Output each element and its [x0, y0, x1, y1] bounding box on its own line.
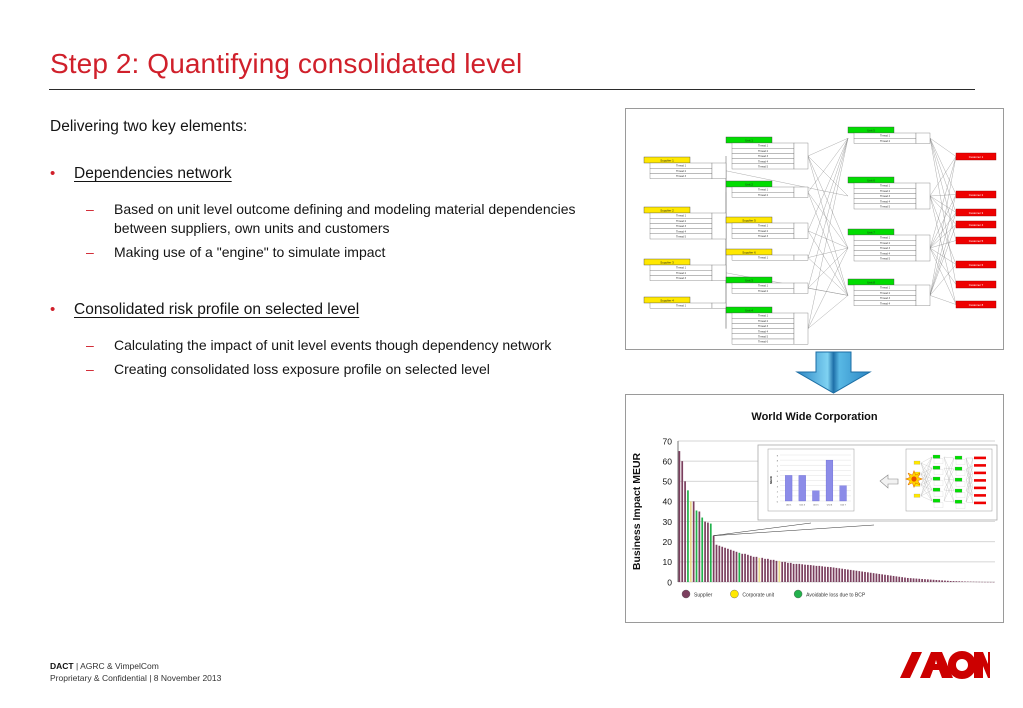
- chart-bar: [876, 574, 878, 582]
- inset-panel: 0123456789MEURUnit 1Unit 3Unit 5Unit 6Un…: [758, 445, 997, 520]
- legend-label: Avoidable loss due to BCP: [806, 593, 866, 599]
- chart-bar: [924, 579, 926, 582]
- svg-text:Thread 2: Thread 2: [758, 194, 769, 197]
- svg-text:Thread 2: Thread 2: [676, 170, 687, 173]
- chart-bar: [916, 579, 918, 582]
- chart-bar: [693, 501, 695, 582]
- svg-text:Customer 1: Customer 1: [969, 155, 984, 159]
- chart-bar: [741, 554, 743, 582]
- svg-text:Thread 4: Thread 4: [758, 330, 769, 333]
- chart-bar: [898, 577, 900, 582]
- svg-text:Thread 2: Thread 2: [676, 220, 687, 223]
- aon-logo: [898, 648, 990, 688]
- svg-text:Customer 2: Customer 2: [969, 193, 984, 197]
- network-node: Customer 3: [956, 209, 996, 216]
- network-node: Unit 2Thread 1Thread 2: [726, 181, 808, 197]
- svg-text:Unit 5: Unit 5: [867, 128, 875, 132]
- svg-text:Thread 1: Thread 1: [880, 237, 891, 240]
- svg-text:Thread 4: Thread 4: [676, 230, 687, 233]
- network-node: Customer 4: [956, 221, 996, 228]
- svg-text:Supplier 6: Supplier 6: [742, 250, 756, 254]
- svg-text:Customer 5: Customer 5: [969, 239, 984, 243]
- dash-icon: –: [86, 243, 114, 262]
- svg-text:Thread 4: Thread 4: [880, 302, 891, 305]
- svg-text:Thread 1: Thread 1: [880, 135, 891, 138]
- sub-item-text: Based on unit level outcome defining and…: [114, 200, 584, 238]
- svg-text:Thread 5: Thread 5: [676, 236, 687, 239]
- svg-text:Thread 1: Thread 1: [880, 287, 891, 290]
- chart-bar: [784, 562, 786, 582]
- svg-text:Thread 5: Thread 5: [758, 166, 769, 169]
- inset-bar: [812, 491, 819, 501]
- network-node: Supplier 1Thread 1Thread 2Thread 3: [644, 157, 726, 179]
- dependencies-network-diagram: Supplier 1Thread 1Thread 2Thread 3Suppli…: [626, 109, 1003, 349]
- svg-text:Customer 7: Customer 7: [969, 283, 984, 287]
- chart-bar: [807, 565, 809, 582]
- chart-bar: [778, 561, 780, 582]
- svg-text:Thread 1: Thread 1: [758, 257, 769, 260]
- down-arrow: [786, 350, 881, 395]
- chart-bar: [790, 563, 792, 582]
- chart-bar: [861, 572, 863, 582]
- network-node: Unit 6Thread 1Thread 2Thread 3Thread 4Th…: [848, 177, 930, 209]
- chart-title: World Wide Corporation: [751, 411, 877, 423]
- network-node: Supplier 4Thread 1: [644, 297, 726, 308]
- chart-bar: [701, 518, 703, 582]
- content-column: Delivering two key elements: • Dependenc…: [50, 118, 610, 387]
- footer-client: | AGRC & VimpelCom: [76, 661, 159, 671]
- sub-item: – Based on unit level outcome defining a…: [50, 200, 610, 238]
- svg-text:Thread 3: Thread 3: [758, 235, 769, 238]
- chart-bar: [747, 555, 749, 582]
- svg-text:Customer 6: Customer 6: [969, 263, 984, 267]
- y-axis-tick: 60: [663, 456, 673, 466]
- chart-legend: SupplierCorporate unitAvoidable loss due…: [682, 590, 866, 599]
- inset-bar: [785, 475, 792, 501]
- bullet-dot-icon: •: [50, 300, 74, 320]
- svg-text:Customer 4: Customer 4: [969, 223, 984, 227]
- network-node: Unit 7Thread 1Thread 2Thread 3Thread 4Th…: [848, 229, 930, 261]
- bullet-block-1: • Dependencies network – Based on unit l…: [50, 164, 610, 262]
- footer: DACT | AGRC & VimpelCom Proprietary & Co…: [50, 660, 221, 684]
- chart-bar: [836, 568, 838, 582]
- chart-bar: [907, 578, 909, 582]
- sub-item: – Creating consolidated loss exposure pr…: [50, 360, 610, 379]
- chart-bar: [776, 561, 778, 582]
- network-node: Unit 4Thread 1Thread 2Thread 3Thread 4Th…: [726, 307, 808, 344]
- title-divider: [49, 89, 975, 90]
- svg-text:Thread 2: Thread 2: [758, 290, 769, 293]
- chart-bar: [773, 560, 775, 582]
- chart-bar: [873, 573, 875, 582]
- chart-bar: [838, 568, 840, 582]
- svg-text:Supplier 4: Supplier 4: [660, 298, 674, 302]
- chart-bar: [890, 576, 892, 582]
- svg-text:Thread 1: Thread 1: [676, 267, 687, 270]
- chart-bar: [687, 490, 689, 582]
- network-node: Unit 3Thread 1Thread 2: [726, 277, 808, 293]
- chart-bar: [841, 569, 843, 582]
- chart-bar: [921, 579, 923, 582]
- sub-item-text: Making use of a "engine" to simulate imp…: [114, 243, 385, 262]
- svg-text:Thread 3: Thread 3: [676, 225, 687, 228]
- chart-bar: [690, 501, 692, 582]
- chart-bar: [958, 581, 960, 582]
- svg-text:Thread 1: Thread 1: [676, 215, 687, 218]
- inset-category-label: Unit 6: [827, 504, 833, 507]
- chart-bar: [887, 575, 889, 582]
- svg-text:Unit 2: Unit 2: [745, 182, 753, 186]
- chart-bar: [744, 554, 746, 582]
- svg-text:Thread 1: Thread 1: [676, 305, 687, 308]
- svg-text:Thread 3: Thread 3: [880, 247, 891, 250]
- svg-text:Thread 3: Thread 3: [676, 175, 687, 178]
- chart-bar: [867, 572, 869, 582]
- bullet-1: • Dependencies network: [50, 164, 610, 184]
- chart-bar: [707, 523, 709, 582]
- svg-text:Thread 6: Thread 6: [758, 341, 769, 344]
- svg-text:Customer 3: Customer 3: [969, 211, 984, 215]
- chart-bar: [870, 573, 872, 582]
- svg-text:Thread 3: Thread 3: [676, 277, 687, 280]
- lead-text: Delivering two key elements:: [50, 118, 610, 136]
- sub-item-text: Creating consolidated loss exposure prof…: [114, 360, 490, 379]
- inset-category-label: Unit 3: [800, 504, 806, 507]
- chart-bar: [679, 451, 681, 582]
- svg-text:Thread 4: Thread 4: [880, 252, 891, 255]
- dependencies-network-frame: Supplier 1Thread 1Thread 2Thread 3Suppli…: [625, 108, 1004, 350]
- network-node: Unit 1Thread 1Thread 2Thread 3Thread 4Th…: [726, 137, 808, 169]
- chart-bar: [813, 565, 815, 582]
- inset-bar: [840, 486, 847, 501]
- svg-text:Supplier 2: Supplier 2: [660, 208, 674, 212]
- chart-bar: [896, 576, 898, 582]
- chart-bar: [704, 522, 706, 582]
- chart-bar: [787, 563, 789, 582]
- chart-bar: [738, 553, 740, 582]
- network-node: Supplier 3Thread 1Thread 2Thread 3: [644, 259, 726, 281]
- network-node: Customer 8: [956, 301, 996, 308]
- chart-bar: [858, 571, 860, 582]
- chart-bar: [764, 559, 766, 582]
- chart-bar: [864, 572, 866, 582]
- svg-text:Thread 2: Thread 2: [758, 150, 769, 153]
- chart-bar: [730, 550, 732, 582]
- chart-bar: [753, 557, 755, 582]
- chart-bar: [818, 566, 820, 582]
- dash-icon: –: [86, 360, 114, 379]
- svg-text:Thread 2: Thread 2: [676, 272, 687, 275]
- chart-bar: [718, 546, 720, 582]
- svg-text:Unit 6: Unit 6: [867, 178, 875, 182]
- y-axis-tick: 20: [663, 537, 673, 547]
- network-node: Unit 5Thread 1Thread 2: [848, 127, 930, 143]
- network-node: Supplier 2Thread 1Thread 2Thread 3Thread…: [644, 207, 726, 239]
- dash-icon: –: [86, 336, 114, 355]
- inset-category-label: Unit 1: [786, 504, 792, 507]
- chart-bar: [816, 566, 818, 582]
- network-node: Customer 5: [956, 237, 996, 244]
- svg-text:Thread 1: Thread 1: [758, 145, 769, 148]
- svg-text:Supplier 3: Supplier 3: [660, 260, 674, 264]
- chart-bar: [721, 547, 723, 582]
- chart-bar: [901, 577, 903, 582]
- legend-label: Corporate unit: [742, 593, 774, 599]
- footer-line-2: Proprietary & Confidential | 8 November …: [50, 672, 221, 684]
- svg-text:Unit 1: Unit 1: [745, 138, 753, 142]
- sub-item: – Making use of a "engine" to simulate i…: [50, 243, 610, 262]
- legend-swatch: [682, 590, 690, 598]
- chart-bar: [781, 562, 783, 582]
- chart-bar: [810, 565, 812, 582]
- chart-bar: [936, 580, 938, 582]
- inset-category-label: Unit 7: [840, 504, 846, 507]
- chart-bar: [884, 575, 886, 582]
- chart-bar: [713, 536, 715, 582]
- chart-bar: [793, 564, 795, 582]
- chart-bar: [881, 574, 883, 582]
- svg-text:Thread 5: Thread 5: [880, 206, 891, 209]
- chart-bar: [893, 576, 895, 582]
- chart-bar: [950, 581, 952, 582]
- chart-bar: [801, 564, 803, 582]
- chart-bar: [918, 579, 920, 582]
- chart-bar: [681, 461, 683, 582]
- chart-bar: [827, 567, 829, 582]
- chart-bar: [844, 569, 846, 582]
- chart-bar: [941, 580, 943, 582]
- y-axis-tick: 40: [663, 497, 673, 507]
- bullet-block-2: • Consolidated risk profile on selected …: [50, 300, 610, 379]
- footer-project: DACT: [50, 661, 74, 671]
- network-node: Unit 8Thread 1Thread 2Thread 3Thread 4: [848, 279, 930, 306]
- chart-bar: [847, 570, 849, 582]
- y-axis-tick: 30: [663, 517, 673, 527]
- bullet-2: • Consolidated risk profile on selected …: [50, 300, 610, 320]
- svg-text:Thread 5: Thread 5: [758, 336, 769, 339]
- chart-bar: [798, 564, 800, 582]
- chart-bar: [933, 580, 935, 582]
- svg-text:Thread 2: Thread 2: [880, 292, 891, 295]
- aon-logo-icon: [900, 651, 990, 679]
- chart-bar: [761, 558, 763, 582]
- svg-text:Thread 5: Thread 5: [880, 258, 891, 261]
- y-axis-tick: 70: [663, 436, 673, 446]
- svg-text:Thread 1: Thread 1: [758, 285, 769, 288]
- network-node: Customer 2: [956, 191, 996, 198]
- y-axis-label: Business Impact MEUR: [631, 452, 643, 570]
- consolidated-loss-chart-frame: World Wide Corporation010203040506070Bus…: [625, 394, 1004, 623]
- page-title: Step 2: Quantifying consolidated level: [50, 48, 522, 80]
- svg-text:Thread 2: Thread 2: [880, 242, 891, 245]
- svg-text:Thread 4: Thread 4: [880, 200, 891, 203]
- sub-item: – Calculating the impact of unit level e…: [50, 336, 610, 355]
- chart-bar: [961, 581, 963, 582]
- chart-bar: [750, 556, 752, 582]
- network-node: Customer 6: [956, 261, 996, 268]
- dash-icon: –: [86, 200, 114, 219]
- svg-text:Thread 2: Thread 2: [758, 230, 769, 233]
- down-arrow-icon: [797, 352, 870, 393]
- svg-text:Customer 8: Customer 8: [969, 303, 984, 307]
- chart-bar: [796, 564, 798, 582]
- bullet-1-sublist: – Based on unit level outcome defining a…: [50, 200, 610, 262]
- svg-text:Thread 2: Thread 2: [880, 190, 891, 193]
- chart-bar: [833, 567, 835, 582]
- chart-bar: [696, 510, 698, 582]
- chart-bar: [710, 524, 712, 582]
- chart-bar: [767, 559, 769, 582]
- svg-text:Thread 3: Thread 3: [880, 195, 891, 198]
- network-node: Supplier 5Thread 1Thread 2Thread 3: [726, 217, 808, 239]
- chart-bar: [913, 578, 915, 582]
- legend-swatch: [730, 590, 738, 598]
- bullet-dot-icon: •: [50, 164, 74, 184]
- chart-bar: [824, 567, 826, 582]
- chart-bar: [804, 565, 806, 582]
- svg-text:Thread 3: Thread 3: [758, 155, 769, 158]
- network-node: Customer 7: [956, 281, 996, 288]
- chart-bar: [733, 551, 735, 582]
- inset-bar: [826, 460, 833, 501]
- svg-text:Thread 1: Thread 1: [758, 189, 769, 192]
- svg-text:Thread 3: Thread 3: [880, 297, 891, 300]
- chart-bar: [944, 581, 946, 582]
- y-axis-tick: 50: [663, 477, 673, 487]
- svg-text:Thread 1: Thread 1: [758, 225, 769, 228]
- chart-bar: [821, 566, 823, 582]
- svg-text:MEUR: MEUR: [769, 476, 773, 484]
- svg-text:Supplier 1: Supplier 1: [660, 158, 674, 162]
- chart-bar: [904, 578, 906, 582]
- network-node: Customer 1: [956, 153, 996, 160]
- spacer: [50, 270, 610, 300]
- svg-text:Supplier 5: Supplier 5: [742, 218, 756, 222]
- svg-text:Thread 2: Thread 2: [758, 320, 769, 323]
- chart-bar: [930, 580, 932, 582]
- chart-bar: [830, 567, 832, 582]
- chart-bar: [770, 560, 772, 582]
- consolidated-loss-chart: World Wide Corporation010203040506070Bus…: [626, 395, 1003, 622]
- chart-bar: [684, 481, 686, 582]
- chart-bar: [699, 512, 701, 583]
- network-node: Supplier 6Thread 1: [726, 249, 808, 260]
- inset-category-label: Unit 5: [813, 504, 819, 507]
- chart-bar: [736, 552, 738, 582]
- chart-bar: [878, 574, 880, 582]
- legend-swatch: [794, 590, 802, 598]
- bullet-1-heading: Dependencies network: [74, 164, 232, 184]
- slide: Step 2: Quantifying consolidated level D…: [0, 0, 1023, 708]
- legend-label: Supplier: [694, 593, 713, 599]
- chart-bar: [853, 570, 855, 582]
- chart-bar: [938, 580, 940, 582]
- inset-bar: [799, 475, 806, 501]
- svg-text:Unit 4: Unit 4: [745, 308, 753, 312]
- chart-bar: [724, 548, 726, 582]
- svg-text:Thread 2: Thread 2: [880, 140, 891, 143]
- sub-item-text: Calculating the impact of unit level eve…: [114, 336, 551, 355]
- chart-bar: [716, 545, 718, 582]
- svg-text:Unit 8: Unit 8: [867, 280, 875, 284]
- y-axis-tick: 10: [663, 557, 673, 567]
- svg-text:Unit 7: Unit 7: [867, 230, 875, 234]
- svg-text:Unit 3: Unit 3: [745, 278, 753, 282]
- svg-text:Thread 1: Thread 1: [758, 315, 769, 318]
- footer-line-1: DACT | AGRC & VimpelCom: [50, 660, 221, 672]
- svg-text:Thread 1: Thread 1: [676, 165, 687, 168]
- chart-bar: [964, 581, 966, 582]
- chart-bar: [850, 570, 852, 582]
- chart-bar: [756, 557, 758, 582]
- svg-text:Thread 3: Thread 3: [758, 325, 769, 328]
- svg-text:Thread 1: Thread 1: [880, 185, 891, 188]
- chart-bar: [953, 581, 955, 582]
- y-axis-tick: 0: [667, 577, 672, 587]
- chart-bar: [910, 578, 912, 582]
- bullet-2-heading: Consolidated risk profile on selected le…: [74, 300, 359, 320]
- svg-text:Thread 4: Thread 4: [758, 160, 769, 163]
- chart-bar: [927, 579, 929, 582]
- chart-bar: [947, 581, 949, 582]
- chart-bar: [727, 549, 729, 582]
- chart-bar: [856, 571, 858, 582]
- chart-bar: [758, 558, 760, 582]
- chart-bar: [956, 581, 958, 582]
- bullet-2-sublist: – Calculating the impact of unit level e…: [50, 336, 610, 379]
